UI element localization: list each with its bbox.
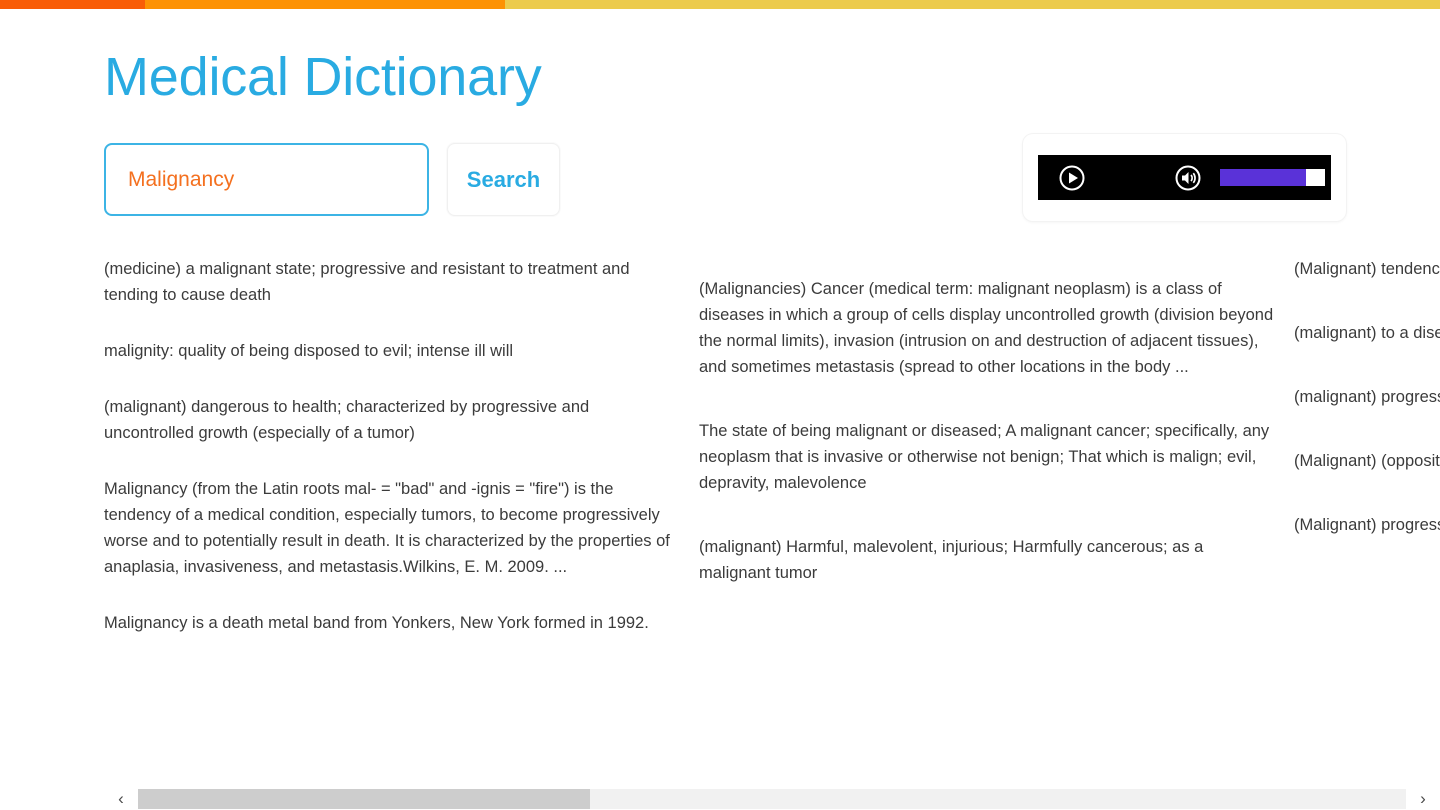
definition-entry: Malignancy (from the Latin roots mal- = … — [104, 476, 679, 580]
definition-entry: The state of being malignant or diseased… — [699, 418, 1274, 496]
volume-slider-thumb[interactable] — [1306, 169, 1325, 186]
definition-entry: (Malignant) progressively — [1294, 512, 1440, 538]
definition-entry: (Malignant) tendency to and to break — [1294, 256, 1440, 282]
results-area: (medicine) a malignant state; progressiv… — [104, 256, 1440, 756]
audio-player-bar — [1038, 155, 1331, 200]
speaker-volume-icon[interactable] — [1172, 162, 1204, 194]
definition-entry: (malignant) Harmful, malevolent, injurio… — [699, 534, 1274, 586]
scrollbar-track[interactable] — [138, 789, 1406, 809]
page-title: Medical Dictionary — [104, 48, 542, 107]
results-column-1: (medicine) a malignant state; progressiv… — [104, 256, 679, 666]
scroll-right-arrow-icon[interactable]: › — [1406, 788, 1440, 810]
audio-player — [1023, 134, 1346, 221]
volume-slider-fill — [1220, 169, 1306, 186]
scrollbar-thumb[interactable] — [138, 789, 590, 809]
scroll-left-arrow-icon[interactable]: ‹ — [104, 788, 138, 810]
volume-slider[interactable] — [1220, 169, 1325, 186]
play-circle-icon[interactable] — [1056, 162, 1088, 194]
horizontal-scrollbar[interactable]: ‹ › — [104, 788, 1440, 810]
definition-entry: (malignant) progressively — [1294, 384, 1440, 410]
definition-entry: (malignant) dangerous to health; charact… — [104, 394, 679, 446]
results-column-2: (Malignancies) Cancer (medical term: mal… — [699, 256, 1274, 624]
accent-segment-yellow — [505, 0, 1440, 9]
search-button[interactable]: Search — [447, 143, 560, 216]
definition-entry: malignity: quality of being disposed to … — [104, 338, 679, 364]
search-input[interactable] — [104, 143, 429, 216]
search-row: Search — [104, 143, 560, 216]
definition-entry: (medicine) a malignant state; progressiv… — [104, 256, 679, 308]
accent-segment-orange — [145, 0, 505, 9]
definition-entry: Malignancy is a death metal band from Yo… — [104, 610, 679, 636]
results-column-3: (Malignant) tendency to and to break (ma… — [1294, 256, 1440, 576]
accent-segment-orange-dark — [0, 0, 145, 9]
definition-entry: (Malignancies) Cancer (medical term: mal… — [699, 276, 1274, 380]
definition-entry: (Malignant) (opposite of — [1294, 448, 1440, 474]
definition-entry: (malignant) to a disease — [1294, 320, 1440, 346]
top-accent-bar — [0, 0, 1440, 9]
